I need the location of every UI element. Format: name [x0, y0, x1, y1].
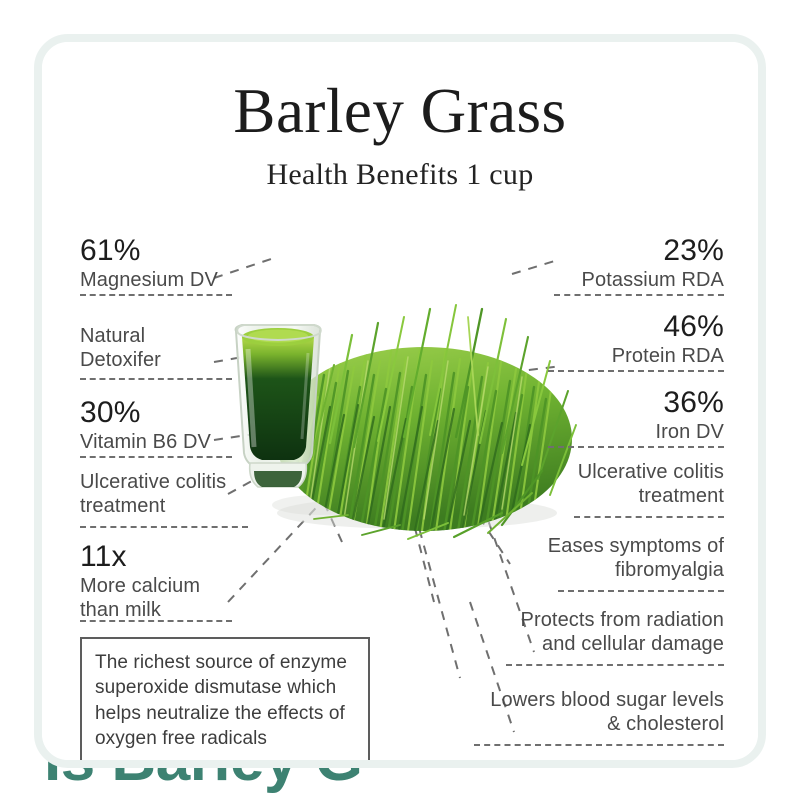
fact-colitis-right: Ulcerative colitis treatment — [494, 460, 724, 509]
fact-colitis-right-label: Ulcerative colitis treatment — [494, 460, 724, 509]
enzyme-note-text: The richest source of enzyme superoxide … — [95, 650, 355, 751]
fact-magnesium: 61% Magnesium DV — [80, 234, 280, 292]
connector-center-2 — [398, 462, 434, 602]
fact-magnesium-label: Magnesium DV — [80, 268, 280, 292]
rule-iron — [548, 446, 724, 448]
page-title: Barley Grass — [42, 80, 758, 143]
rule-colitis-right — [574, 516, 724, 518]
connector-center-1 — [310, 472, 342, 542]
fact-vitamin-b6: 30% Vitamin B6 DV — [80, 396, 280, 454]
fact-vitamin-b6-label: Vitamin B6 DV — [80, 430, 280, 454]
rule-detoxifer — [80, 378, 232, 380]
fact-fibromyalgia-label: Eases symptoms of fibromyalgia — [484, 534, 724, 583]
fact-fibromyalgia: Eases symptoms of fibromyalgia — [484, 534, 724, 583]
rule-fibromyalgia — [558, 590, 724, 592]
fact-calcium-value: 11x — [80, 540, 280, 574]
fact-calcium-label: More calcium than milk — [80, 574, 280, 623]
fact-potassium-value: 23% — [494, 234, 724, 268]
fact-blood-sugar-label: Lowers blood sugar levels & cholesterol — [448, 688, 724, 737]
fact-iron: 36% Iron DV — [494, 386, 724, 444]
fact-magnesium-value: 61% — [80, 234, 280, 268]
rule-calcium — [80, 620, 232, 622]
rule-magnesium — [80, 294, 232, 296]
fact-protein: 46% Protein RDA — [494, 310, 724, 368]
fact-colitis-left-label: Ulcerative colitis treatment — [80, 470, 290, 519]
fact-vitamin-b6-value: 30% — [80, 396, 280, 430]
fact-calcium: 11x More calcium than milk — [80, 540, 280, 622]
infographic-card: Barley Grass Health Benefits 1 cup — [34, 34, 766, 768]
fact-protein-label: Protein RDA — [494, 344, 724, 368]
rule-radiation — [506, 664, 724, 666]
fact-radiation-label: Protects from radiation and cellular dam… — [466, 608, 724, 657]
rule-colitis-left — [80, 526, 248, 528]
rule-protein — [548, 370, 724, 372]
infographic-canvas: Is Barley G Barley Grass Health Benefits… — [0, 0, 800, 800]
fact-blood-sugar: Lowers blood sugar levels & cholesterol — [448, 688, 724, 737]
fact-detoxifer: Natural Detoxifer — [80, 324, 280, 373]
rule-vitamin-b6 — [80, 456, 232, 458]
fact-colitis-left: Ulcerative colitis treatment — [80, 470, 290, 519]
fact-iron-label: Iron DV — [494, 420, 724, 444]
fact-iron-value: 36% — [494, 386, 724, 420]
fact-potassium: 23% Potassium RDA — [494, 234, 724, 292]
fact-radiation: Protects from radiation and cellular dam… — [466, 608, 724, 657]
rule-potassium — [554, 294, 724, 296]
fact-detoxifer-label: Natural Detoxifer — [80, 324, 280, 373]
enzyme-note-box: The richest source of enzyme superoxide … — [80, 637, 370, 766]
page-subtitle: Health Benefits 1 cup — [42, 160, 758, 190]
fact-potassium-label: Potassium RDA — [494, 268, 724, 292]
fact-protein-value: 46% — [494, 310, 724, 344]
connector-center-3 — [406, 480, 460, 678]
card-surface: Barley Grass Health Benefits 1 cup — [42, 42, 758, 760]
rule-blood-sugar — [474, 744, 724, 746]
